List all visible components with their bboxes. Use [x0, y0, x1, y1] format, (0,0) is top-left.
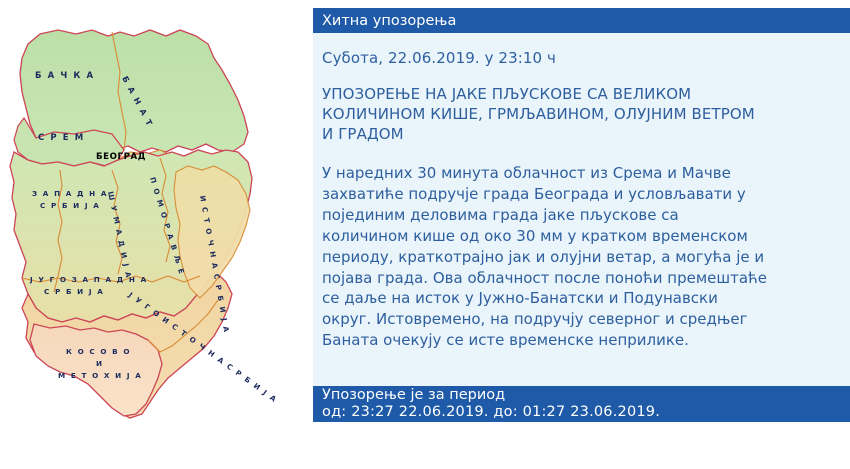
alert-body-line-9: Баната очекују се исте временске неприли…: [322, 330, 836, 351]
map-label-kosovo-line3: М Е Т О Х И Ј А: [58, 371, 142, 380]
alert-body-line-3: појединим деловима града јаке пљускове с…: [322, 205, 836, 226]
serbia-map: Б А Ч К А Б А Н А Т С Р Е М БЕОГРАД З А …: [0, 0, 312, 469]
alert-headline-line-2: КОЛИЧИНОМ КИШЕ, ГРМЉАВИНОМ, ОЛУЈНИМ ВЕТР…: [322, 105, 836, 125]
panel-title: Хитна упозорења: [322, 13, 456, 29]
alert-body-line-7: се даље на исток у Јужно-Банатски и Поду…: [322, 288, 836, 309]
alert-body-line-8: округ. Истовремено, на подручју северног…: [322, 309, 836, 330]
map-label-beograd: БЕОГРАД: [96, 152, 146, 162]
map-label-jugozapadna-srbija-line2: С Р Б И Ј А: [44, 287, 104, 296]
alert-body-line-6: појава града. Ова облачност после поноћи…: [322, 268, 836, 289]
panel-header-bar: Хитна упозорења: [313, 8, 850, 33]
validity-period-range: од: 23:27 22.06.2019. до: 01:27 23.06.20…: [322, 404, 850, 421]
map-label-kosovo-line2: И: [96, 359, 104, 368]
map-region-kosovo-metohija: [30, 324, 162, 416]
alert-timestamp: Субота, 22.06.2019. у 23:10 ч: [322, 33, 836, 67]
alert-headline-line-3: И ГРАДОМ: [322, 125, 836, 145]
panel-bottom-spacer: [313, 422, 850, 469]
validity-period-label: Упозорење је за период: [322, 386, 850, 404]
panel-top-spacer: [313, 0, 850, 8]
alert-content: Субота, 22.06.2019. у 23:10 ч УПОЗОРЕЊЕ …: [313, 33, 850, 351]
alert-body-line-1: У наредних 30 минута облачност из Срема …: [322, 163, 836, 184]
alert-body-line-4: количином кише од око 30 мм у кратком вр…: [322, 226, 836, 247]
map-label-jugozapadna-srbija-line1: Ј У Г О З А П А Д Н А: [29, 275, 148, 284]
alert-body-text: У наредних 30 минута облачност из Срема …: [322, 144, 836, 351]
alert-headline: УПОЗОРЕЊЕ НА ЈАКЕ ПЉУСКОВЕ СА ВЕЛИКОМ КО…: [322, 67, 836, 144]
alert-headline-line-1: УПОЗОРЕЊЕ НА ЈАКЕ ПЉУСКОВЕ СА ВЕЛИКОМ: [322, 85, 836, 105]
map-label-backa: Б А Ч К А: [35, 71, 95, 81]
alert-body-line-5: периоду, краткотрајно јак и олујни ветар…: [322, 247, 836, 268]
serbia-map-svg: Б А Ч К А Б А Н А Т С Р Е М БЕОГРАД З А …: [0, 0, 312, 469]
map-label-srem: С Р Е М: [38, 133, 85, 143]
map-label-zapadna-srbija-line2: С Р Б И Ј А: [40, 201, 100, 210]
alert-body-line-2: захватиће подручје града Београда и усло…: [322, 184, 836, 205]
validity-period-bar: Упозорење је за период од: 23:27 22.06.2…: [313, 386, 850, 422]
alert-panel: Хитна упозорења Субота, 22.06.2019. у 23…: [313, 0, 850, 425]
alert-screen: Б А Ч К А Б А Н А Т С Р Е М БЕОГРАД З А …: [0, 0, 850, 469]
map-label-zapadna-srbija-line1: З А П А Д Н А: [32, 189, 108, 198]
map-label-kosovo-line1: К О С О В О: [66, 347, 131, 356]
